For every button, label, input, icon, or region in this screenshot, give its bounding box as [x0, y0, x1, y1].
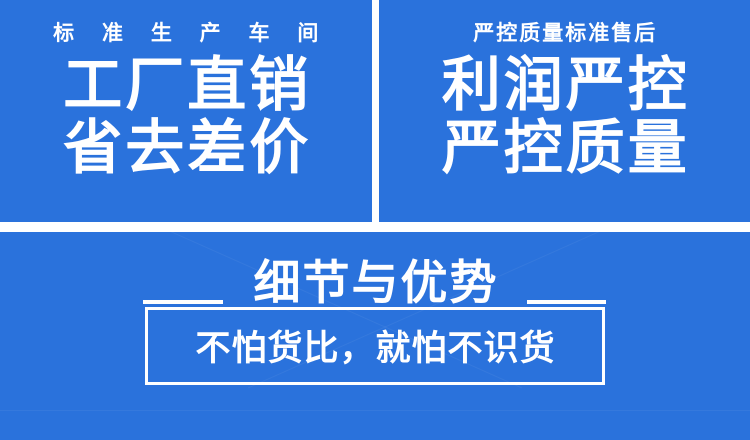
panel-eyebrow-right: 严控质量标准售后 [471, 23, 657, 44]
bottom-banner-title: 细节与优势 [0, 259, 750, 306]
panel-headline-right-line1: 利润严控 [439, 55, 690, 116]
panel-eyebrow-left: 标 准 生 产 车 间 [42, 23, 329, 44]
panel-headline-left-line2: 省去差价 [60, 118, 311, 179]
bottom-banner-subtitle: 不怕货比，就怕不识货 [0, 331, 750, 366]
promo-banner: 标 准 生 产 车 间 工厂直销 省去差价 严控质量标准售后 利润严控 严控质量… [0, 0, 750, 440]
panel-factory-direct: 标 准 生 产 车 间 工厂直销 省去差价 [0, 0, 372, 222]
panel-headline-left-line1: 工厂直销 [60, 55, 311, 116]
top-panel-row: 标 准 生 产 车 间 工厂直销 省去差价 严控质量标准售后 利润严控 严控质量 [0, 0, 750, 222]
panel-quality-control: 严控质量标准售后 利润严控 严控质量 [379, 0, 750, 222]
decorative-horizontal-line [0, 410, 750, 411]
panel-headline-right-line2: 严控质量 [439, 118, 690, 179]
